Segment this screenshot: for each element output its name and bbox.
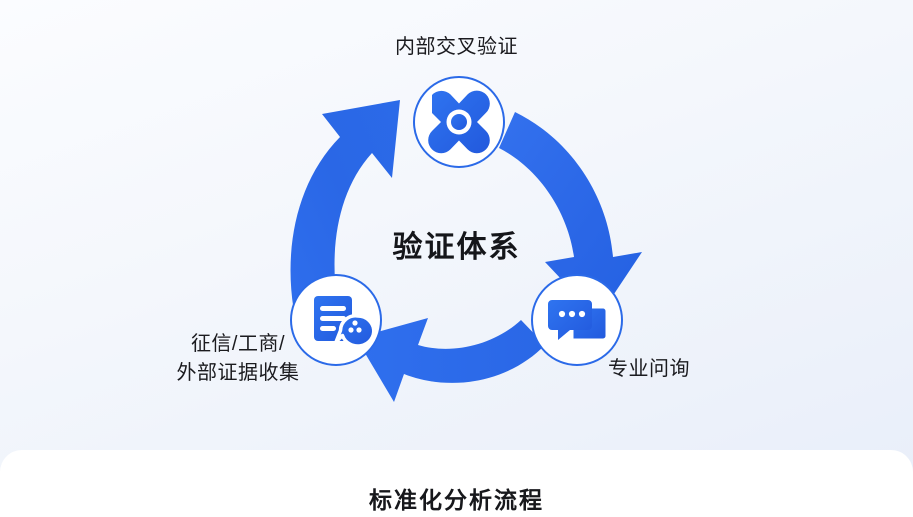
caption-panel: 标准化分析流程 bbox=[0, 450, 913, 517]
node-circle-professional-inquiry[interactable] bbox=[532, 275, 622, 365]
node-circle-internal-cross-verification[interactable] bbox=[414, 77, 504, 167]
node-label-line-1: 征信/工商/ bbox=[158, 330, 318, 359]
caption-title: 标准化分析流程 bbox=[0, 481, 913, 515]
node-label-external-evidence-collection: 征信/工商/ 外部证据收集 bbox=[158, 330, 318, 388]
diagram-center-label: 验证体系 bbox=[0, 222, 913, 266]
node-label-line-2: 外部证据收集 bbox=[158, 359, 318, 388]
slide-root: 内部交叉验证 征信/工商/ 外部证据收集 专业问询 验证体系 标准化分析流程 bbox=[0, 0, 913, 517]
node-label-professional-inquiry: 专业问询 bbox=[608, 355, 690, 384]
cycle-diagram: 内部交叉验证 征信/工商/ 外部证据收集 专业问询 验证体系 bbox=[0, 0, 913, 452]
arrow-bottom-left-icon bbox=[356, 318, 545, 402]
node-label-internal-cross-verification: 内部交叉验证 bbox=[0, 33, 913, 62]
